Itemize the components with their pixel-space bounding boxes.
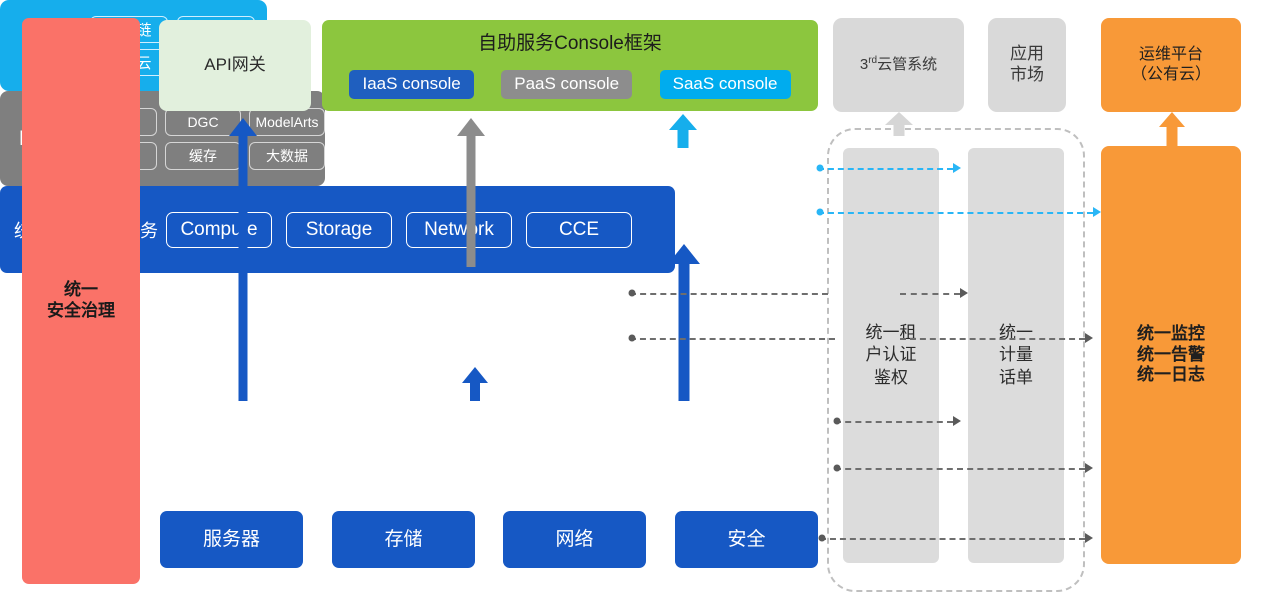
paas-console-button[interactable]: PaaS console <box>501 70 632 99</box>
ops-platform-line-2: （公有云） <box>1131 65 1211 85</box>
app-market-line-2: 市场 <box>1010 65 1044 86</box>
dashed-endpoint-dot <box>834 418 841 425</box>
ops-body-line-3: 统一日志 <box>1137 365 1205 386</box>
dashed-endpoint-dot <box>834 465 841 472</box>
dashed-resources-to-ops <box>820 538 1085 540</box>
iaas-console-button[interactable]: IaaS console <box>349 70 473 99</box>
auth-line-1: 统一租 <box>866 322 917 344</box>
console-button-group: IaaS console PaaS console SaaS console <box>322 70 818 99</box>
ops-body-line-2: 统一告警 <box>1137 345 1205 366</box>
security-line-2: 安全治理 <box>47 301 115 322</box>
dashed-arrowhead <box>1085 533 1093 543</box>
ops-body-line-1: 统一监控 <box>1137 324 1205 345</box>
meter-line-1: 统一 <box>999 322 1033 344</box>
dashed-arrowhead <box>1093 207 1101 217</box>
dashed-auth-to-metering <box>900 293 960 295</box>
paas-service-chip[interactable]: 大数据 <box>249 142 325 170</box>
unified-security-governance-panel[interactable]: 统一 安全治理 <box>22 18 140 584</box>
dashed-arrowhead <box>953 163 961 173</box>
third-party-label: 3rd云管系统 <box>860 55 937 74</box>
third-party-superscript: rd <box>868 55 877 66</box>
meter-line-2: 计量 <box>999 344 1033 366</box>
dashed-endpoint-dot <box>819 535 826 542</box>
arrow-paas-to-console <box>456 118 486 267</box>
third-party-suffix: 云管系统 <box>877 56 937 73</box>
arrow-saas-to-console <box>668 114 698 148</box>
architecture-diagram: 统一 安全治理 API网关 自助服务Console框架 IaaS console… <box>0 0 1265 605</box>
dashed-endpoint-dot <box>629 290 636 297</box>
app-market-line-1: 应用 <box>1010 44 1044 65</box>
dashed-infra-to-metering <box>835 421 953 423</box>
dashed-arrowhead <box>960 288 968 298</box>
meter-line-3: 话单 <box>999 367 1033 389</box>
auth-line-3: 鉴权 <box>866 367 917 389</box>
dashed-paas-to-auth <box>630 293 828 295</box>
ops-platform-body-box[interactable]: 统一监控 统一告警 统一日志 <box>1101 146 1241 564</box>
saas-console-button[interactable]: SaaS console <box>660 70 791 99</box>
dashed-arrowhead <box>953 416 961 426</box>
resource-box-server[interactable]: 服务器 <box>160 511 303 568</box>
third-party-prefix: 3 <box>860 56 868 73</box>
infra-service-chip[interactable]: CCE <box>526 212 632 248</box>
security-line-1: 统一 <box>47 280 115 301</box>
unified-tenant-auth-column[interactable]: 统一租 户认证 鉴权 <box>843 148 939 563</box>
api-gateway-box[interactable]: API网关 <box>159 20 311 111</box>
dashed-saas-to-ops <box>818 212 1093 214</box>
app-market-box[interactable]: 应用 市场 <box>988 18 1066 112</box>
dashed-saas-to-metering <box>818 168 953 170</box>
resource-box-security[interactable]: 安全 <box>675 511 818 568</box>
arrow-infra-to-saas <box>668 244 700 401</box>
resource-box-storage[interactable]: 存储 <box>332 511 475 568</box>
api-gateway-label: API网关 <box>204 55 265 76</box>
arrow-infra-to-paas <box>462 367 488 401</box>
dashed-metering-to-ops <box>900 338 1085 340</box>
dashed-endpoint-dot <box>629 335 636 342</box>
auth-line-2: 户认证 <box>866 344 917 366</box>
dashed-arrowhead <box>1085 463 1093 473</box>
unified-metering-billing-column[interactable]: 统一 计量 话单 <box>968 148 1064 563</box>
dashed-endpoint-dot <box>817 209 824 216</box>
arrow-shared-to-ops-platform <box>1158 112 1186 148</box>
ops-platform-line-1: 运维平台 <box>1131 45 1211 65</box>
dashed-paas-to-ops <box>630 338 835 340</box>
arrow-shared-to-third-party <box>884 112 914 136</box>
dashed-endpoint-dot <box>817 165 824 172</box>
resource-box-network[interactable]: 网络 <box>503 511 646 568</box>
console-frame-title: 自助服务Console框架 <box>322 32 818 55</box>
arrow-infra-to-api-gateway <box>228 118 258 401</box>
dashed-arrowhead <box>1085 333 1093 343</box>
infra-service-chip[interactable]: Storage <box>286 212 392 248</box>
paas-service-chip[interactable]: ModelArts <box>249 108 325 136</box>
self-service-console-frame[interactable]: 自助服务Console框架 IaaS console PaaS console … <box>322 20 818 111</box>
third-party-cloud-management-box[interactable]: 3rd云管系统 <box>833 18 964 112</box>
ops-platform-header-box[interactable]: 运维平台 （公有云） <box>1101 18 1241 112</box>
dashed-infra-to-ops <box>835 468 1085 470</box>
